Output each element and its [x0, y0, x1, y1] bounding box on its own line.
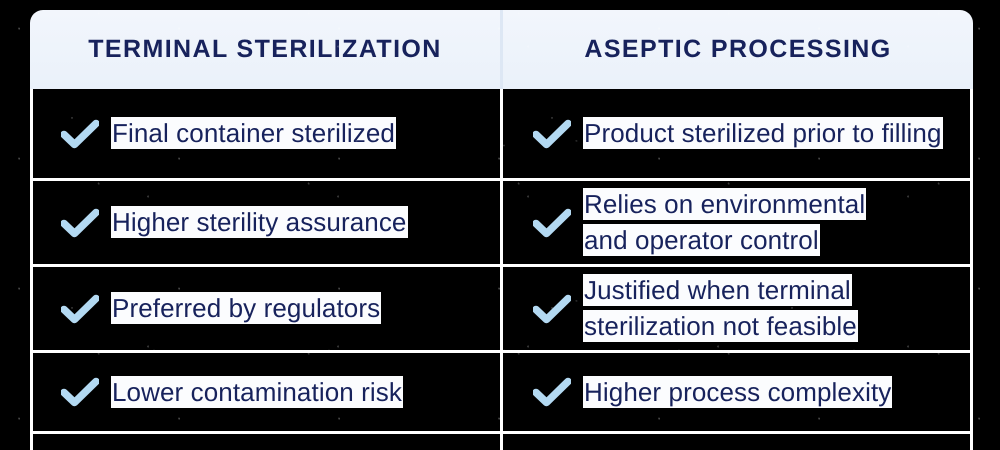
check-icon [533, 119, 571, 149]
cell-text-line: Relies on environmental [584, 189, 865, 219]
check-icon [533, 377, 571, 407]
cell-text: Preferred by regulators [112, 292, 380, 325]
table-cell-terminal-sterilization: Preferred by regulators [33, 267, 500, 350]
cell-text: Relies on environmental and operator con… [584, 188, 865, 257]
column-header-terminal-sterilization: TERMINAL STERILIZATION [30, 10, 500, 89]
table-row: Final container sterilized Product steri… [33, 89, 970, 181]
check-icon [61, 294, 99, 324]
cell-text: Lower contamination risk [112, 376, 402, 409]
cell-text-line: Final container sterilized [112, 118, 395, 148]
cell-text-line: Lower contamination risk [112, 377, 402, 407]
table-cell-aseptic-processing: Relies on environmental and operator con… [503, 181, 970, 264]
table-cell-aseptic-processing: Justified when terminal sterilization no… [503, 267, 970, 350]
table-row [33, 434, 970, 450]
check-icon [533, 294, 571, 324]
cell-text: Higher sterility assurance [112, 206, 407, 239]
table-cell-terminal-sterilization: Final container sterilized [33, 89, 500, 178]
cell-text-line: Higher sterility assurance [112, 207, 407, 237]
cell-text-line: Higher process complexity [584, 377, 891, 407]
check-icon [61, 119, 99, 149]
table-cell-terminal-sterilization: Lower contamination risk [33, 353, 500, 431]
table-row: Lower contamination risk Higher process … [33, 353, 970, 434]
cell-text: Justified when terminal sterilization no… [584, 274, 857, 343]
table-row: Preferred by regulators Justified when t… [33, 267, 970, 353]
check-icon [533, 208, 571, 238]
table-cell-aseptic-processing: Higher process complexity [503, 353, 970, 431]
cell-text-line: Justified when terminal [584, 275, 851, 305]
table-cell-aseptic-processing [503, 434, 970, 450]
cell-text-line: Preferred by regulators [112, 293, 380, 323]
cell-text-line: Product sterilized prior to filling [584, 118, 942, 148]
column-header-aseptic-processing: ASEPTIC PROCESSING [503, 10, 973, 89]
table-row: Higher sterility assurance Relies on env… [33, 181, 970, 267]
cell-text: Final container sterilized [112, 117, 395, 150]
table-cell-aseptic-processing: Product sterilized prior to filling [503, 89, 970, 178]
table-cell-terminal-sterilization [33, 434, 500, 450]
cell-text: Higher process complexity [584, 376, 891, 409]
comparison-table: TERMINAL STERILIZATION ASEPTIC PROCESSIN… [0, 0, 1000, 450]
table-header-card: TERMINAL STERILIZATION ASEPTIC PROCESSIN… [30, 10, 973, 89]
cell-text-line: and operator control [584, 225, 819, 255]
cell-text-line: sterilization not feasible [584, 311, 857, 341]
table-body: Final container sterilized Product steri… [30, 89, 973, 450]
column-header-label: TERMINAL STERILIZATION [88, 37, 441, 62]
table-cell-terminal-sterilization: Higher sterility assurance [33, 181, 500, 264]
check-icon [61, 208, 99, 238]
check-icon [61, 377, 99, 407]
column-header-label: ASEPTIC PROCESSING [584, 37, 891, 62]
cell-text: Product sterilized prior to filling [584, 117, 942, 150]
